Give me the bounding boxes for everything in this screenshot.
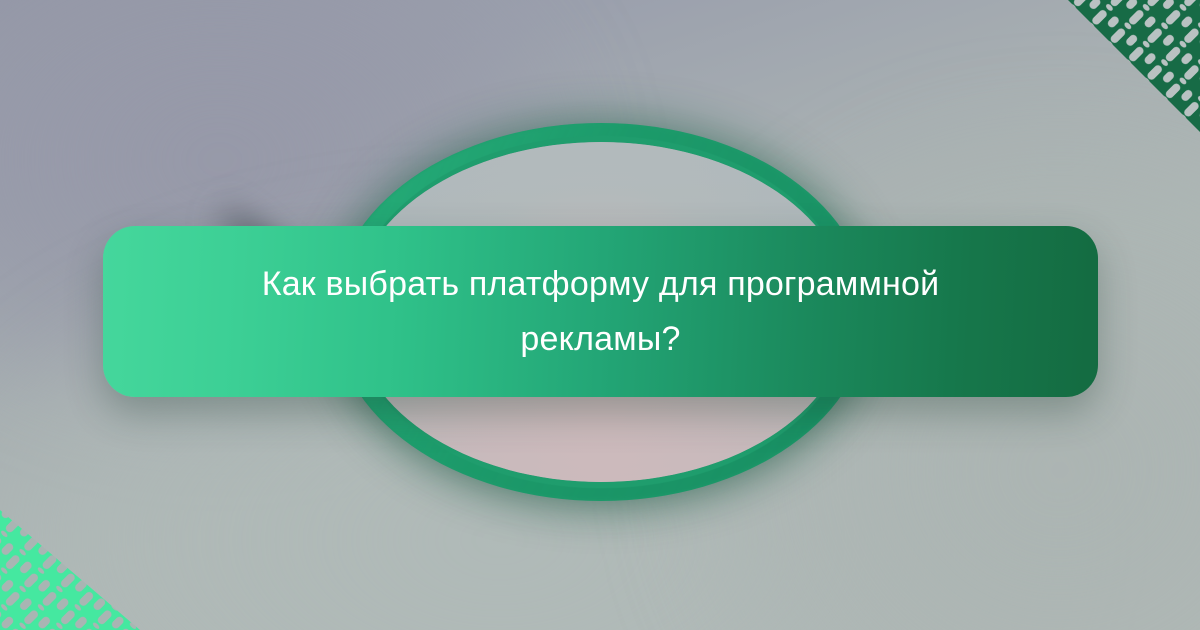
- article-cover-card: Как выбрать платформу для программной ре…: [0, 0, 1200, 630]
- headline-banner: Как выбрать платформу для программной ре…: [103, 226, 1098, 397]
- page-title: Как выбрать платформу для программной ре…: [221, 257, 981, 366]
